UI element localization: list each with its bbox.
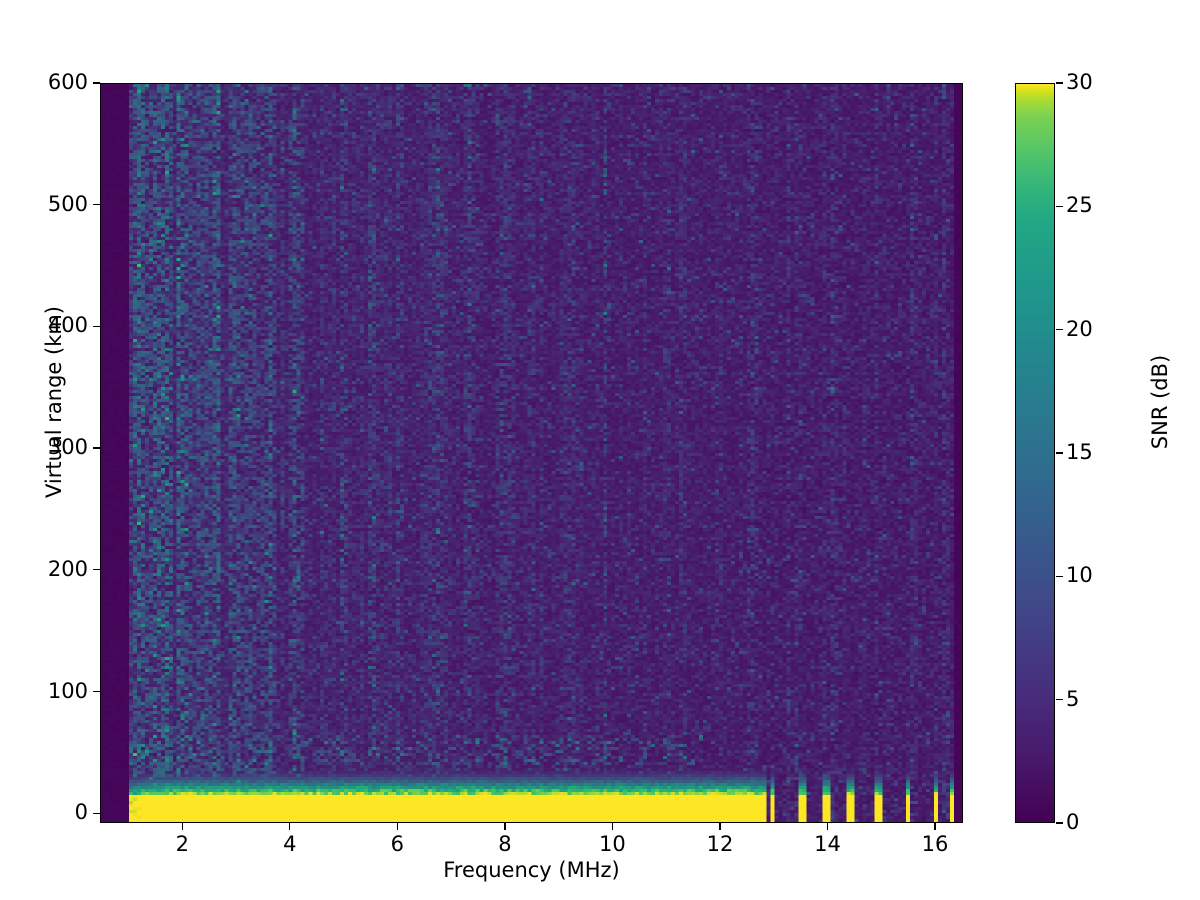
y-axis-label: Virtual range (km) bbox=[42, 52, 66, 752]
colorbar bbox=[1015, 83, 1055, 823]
x-tick-label: 2 bbox=[152, 834, 212, 855]
colorbar-tick-mark bbox=[1056, 699, 1063, 700]
colorbar-tick-mark bbox=[1056, 206, 1063, 207]
colorbar-tick-label: 30 bbox=[1066, 72, 1093, 93]
x-tick-label: 16 bbox=[905, 834, 965, 855]
x-tick-mark bbox=[182, 823, 183, 830]
x-tick-label: 12 bbox=[690, 834, 750, 855]
y-tick-mark bbox=[93, 691, 100, 692]
y-tick-mark bbox=[93, 82, 100, 83]
colorbar-tick-mark bbox=[1056, 82, 1063, 83]
x-tick-mark bbox=[397, 823, 398, 830]
ionogram-axes bbox=[100, 83, 963, 823]
colorbar-tick-mark bbox=[1056, 452, 1063, 453]
x-axis-label: Frequency (MHz) bbox=[100, 858, 963, 882]
y-tick-mark bbox=[93, 326, 100, 327]
x-tick-mark bbox=[289, 823, 290, 830]
x-tick-mark bbox=[719, 823, 720, 830]
colorbar-tick-label: 20 bbox=[1066, 319, 1093, 340]
colorbar-tick-label: 5 bbox=[1066, 689, 1079, 710]
colorbar-tick-label: 25 bbox=[1066, 195, 1093, 216]
colorbar-tick-label: 0 bbox=[1066, 812, 1079, 833]
y-tick-mark bbox=[93, 204, 100, 205]
x-tick-mark bbox=[612, 823, 613, 830]
y-tick-mark bbox=[93, 813, 100, 814]
x-tick-label: 14 bbox=[798, 834, 858, 855]
colorbar-tick-label: 10 bbox=[1066, 565, 1093, 586]
x-tick-label: 8 bbox=[475, 834, 535, 855]
colorbar-label: SNR (dB) bbox=[1148, 242, 1172, 562]
colorbar-tick-mark bbox=[1056, 576, 1063, 577]
colorbar-tick-label: 15 bbox=[1066, 442, 1093, 463]
y-tick-label: 0 bbox=[0, 802, 88, 823]
ionogram-figure: IRF Uppsala SDR Ionosonde UP158 2025-11-… bbox=[0, 0, 1200, 900]
y-tick-mark bbox=[93, 447, 100, 448]
colorbar-tick-mark bbox=[1056, 822, 1063, 823]
x-tick-mark bbox=[827, 823, 828, 830]
x-tick-mark bbox=[934, 823, 935, 830]
x-tick-label: 6 bbox=[367, 834, 427, 855]
heatmap-canvas bbox=[101, 84, 962, 822]
y-tick-mark bbox=[93, 569, 100, 570]
ionogram-heatmap bbox=[101, 84, 962, 822]
x-tick-label: 4 bbox=[260, 834, 320, 855]
x-tick-mark bbox=[504, 823, 505, 830]
x-tick-label: 10 bbox=[582, 834, 642, 855]
colorbar-tick-mark bbox=[1056, 329, 1063, 330]
